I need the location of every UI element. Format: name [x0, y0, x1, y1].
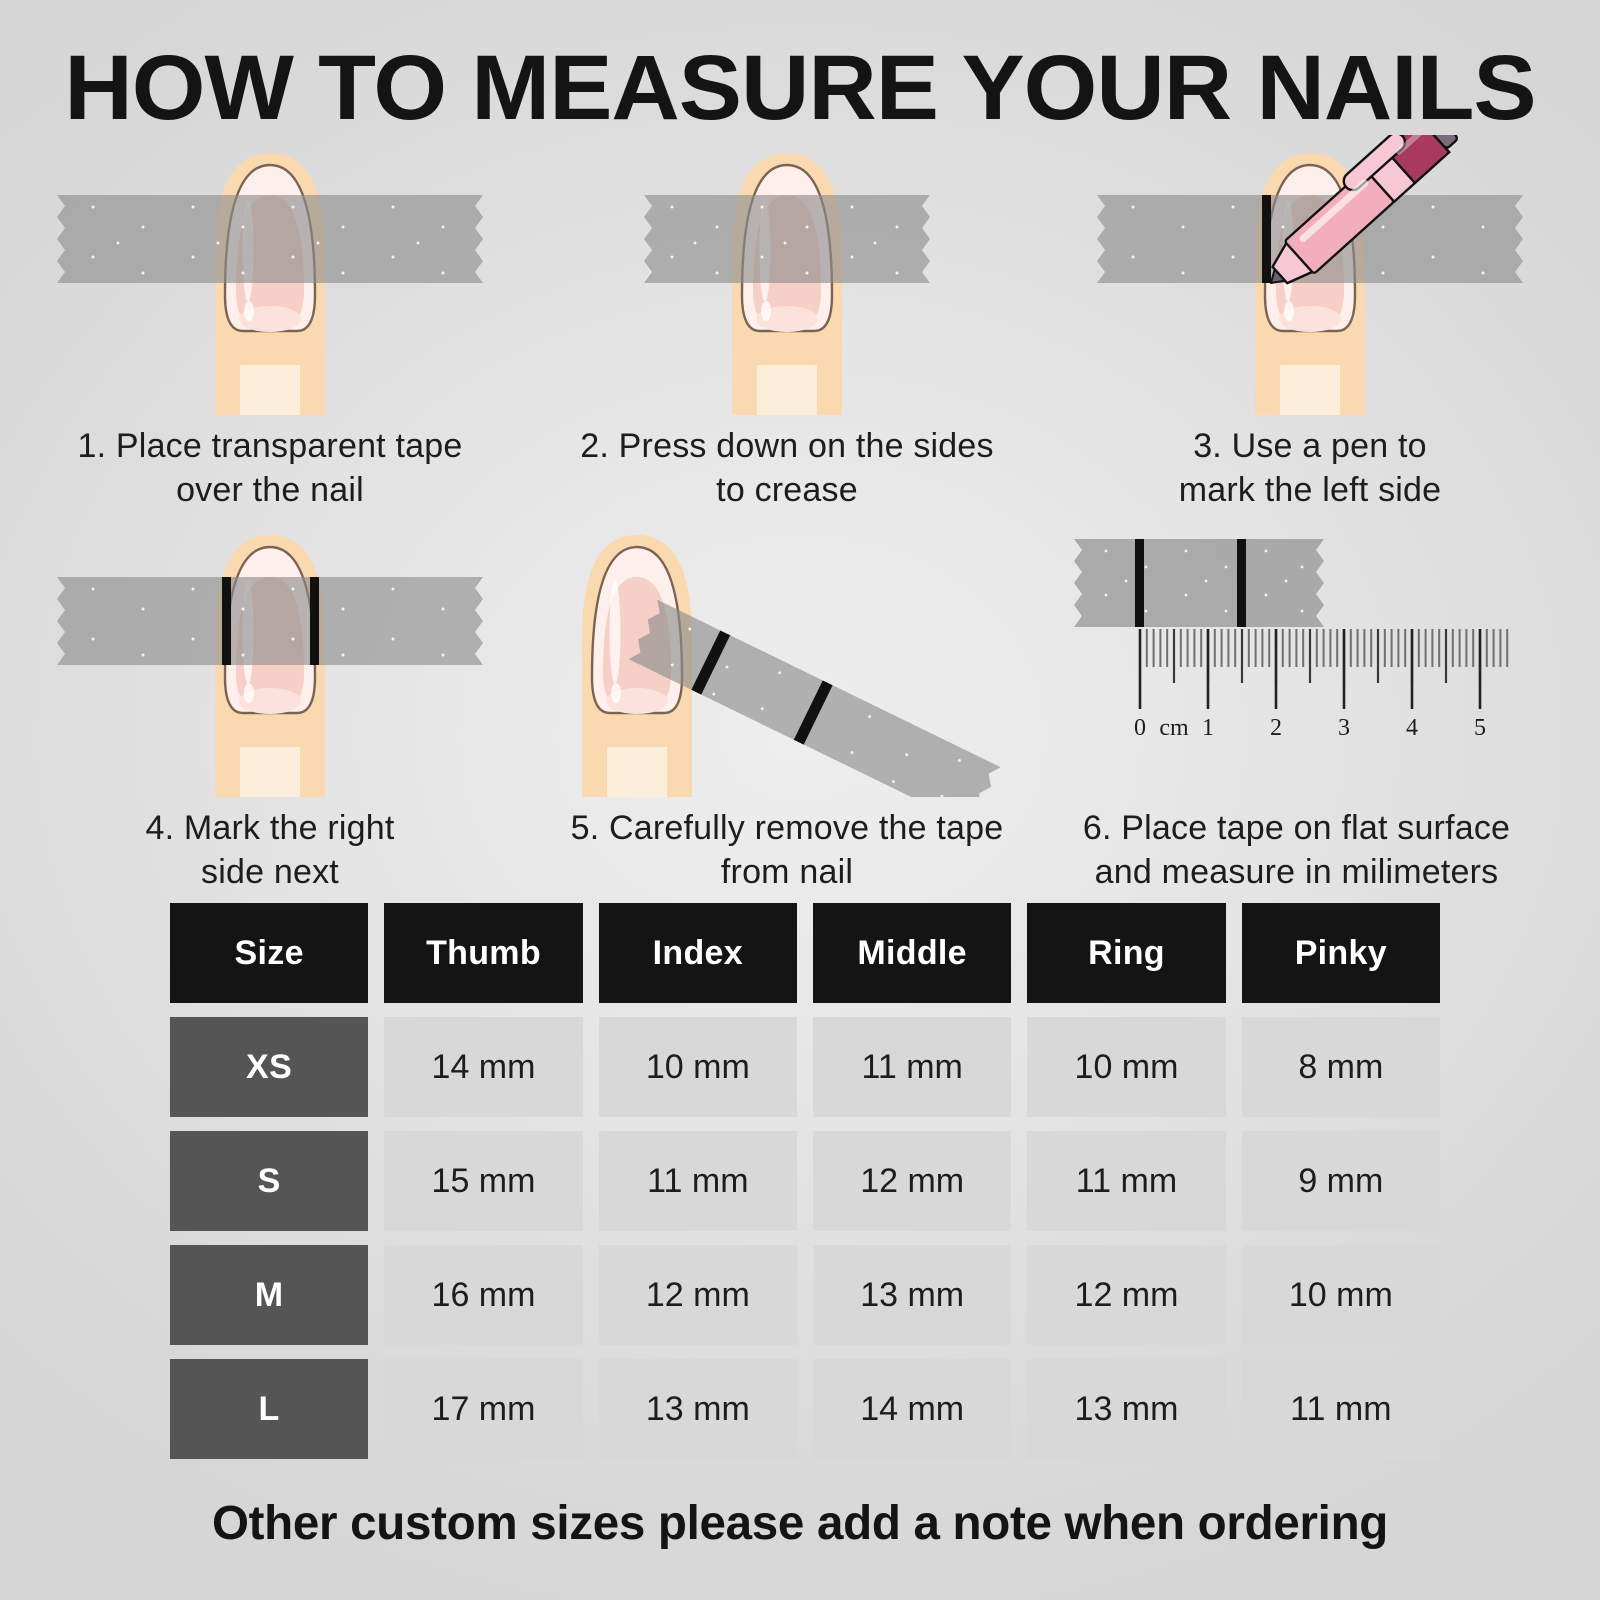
step-1: 1. Place transparent tapeover the nail — [35, 135, 505, 512]
step-6-caption: 6. Place tape on flat surfaceand measure… — [1044, 807, 1549, 894]
tape-on-ruler-svg: 0 cm 1 2 3 4 5 — [1062, 517, 1532, 797]
table-header-thumb: Thumb — [384, 903, 582, 1003]
step-6: 0 cm 1 2 3 4 5 6. Place tape on flat sur… — [1062, 517, 1532, 894]
tape — [1074, 539, 1324, 627]
step-2-illustration — [552, 135, 1022, 415]
tape — [57, 577, 483, 665]
table-cell-s-middle: 12 mm — [813, 1131, 1011, 1231]
ruler-tick-0: 0 — [1134, 715, 1146, 741]
ruler-tick-3: 3 — [1338, 715, 1350, 741]
ruler-tick-5: 5 — [1474, 715, 1486, 741]
step-2: 2. Press down on the sidesto crease — [552, 135, 1022, 512]
table-cell-xs-index: 10 mm — [599, 1017, 797, 1117]
step-3-illustration — [1075, 135, 1545, 415]
finger-tape-pen-svg — [1075, 135, 1545, 415]
table-cell-s-ring: 11 mm — [1027, 1131, 1225, 1231]
infographic-page: HOW TO MEASURE YOUR NAILS — [0, 0, 1600, 1600]
ruler-labels: 0 cm 1 2 3 4 5 — [1134, 715, 1486, 741]
step-5-illustration — [552, 517, 1022, 797]
table-header-index: Index — [599, 903, 797, 1003]
table-cell-s-thumb: 15 mm — [384, 1131, 582, 1231]
table-cell-xs-ring: 10 mm — [1027, 1017, 1225, 1117]
table-cell-s-pinky: 9 mm — [1242, 1131, 1440, 1231]
step-4: 4. Mark the rightside next — [35, 517, 505, 894]
ruler-tick-2: 2 — [1270, 715, 1282, 741]
table-cell-m-thumb: 16 mm — [384, 1245, 582, 1345]
table-cell-m-ring: 12 mm — [1027, 1245, 1225, 1345]
table-row-m-size: M — [170, 1245, 368, 1345]
ruler-ticks — [1140, 629, 1507, 709]
step-6-illustration: 0 cm 1 2 3 4 5 — [1062, 517, 1532, 797]
table-header-pinky: Pinky — [1242, 903, 1440, 1003]
ruler-tick-4: 4 — [1406, 715, 1418, 741]
table-cell-s-index: 11 mm — [599, 1131, 797, 1231]
table-header-ring: Ring — [1027, 903, 1225, 1003]
size-chart-table: Size Thumb Index Middle Ring Pinky XS 14… — [170, 903, 1440, 1459]
table-cell-xs-thumb: 14 mm — [384, 1017, 582, 1117]
table-cell-l-middle: 14 mm — [813, 1359, 1011, 1459]
table-cell-m-index: 12 mm — [599, 1245, 797, 1345]
table-cell-l-index: 13 mm — [599, 1359, 797, 1459]
step-4-illustration — [35, 517, 505, 797]
ruler-tick-1: 1 — [1202, 715, 1214, 741]
table-cell-l-ring: 13 mm — [1027, 1359, 1225, 1459]
finger-with-tape-svg — [35, 135, 505, 415]
table-row-s-size: S — [170, 1131, 368, 1231]
tape — [644, 195, 930, 283]
finger-tape-two-marks-svg — [35, 517, 505, 797]
table-cell-m-middle: 13 mm — [813, 1245, 1011, 1345]
tape — [57, 195, 483, 283]
ruler-unit-label: cm — [1159, 715, 1189, 741]
left-mark — [1262, 195, 1271, 283]
footer-note: Other custom sizes please add a note whe… — [8, 1496, 1592, 1551]
table-row-xs-size: XS — [170, 1017, 368, 1117]
table-header-middle: Middle — [813, 903, 1011, 1003]
finger-tape-peeled-svg — [552, 517, 1022, 797]
table-cell-m-pinky: 10 mm — [1242, 1245, 1440, 1345]
table-cell-xs-pinky: 8 mm — [1242, 1017, 1440, 1117]
step-2-caption: 2. Press down on the sidesto crease — [552, 425, 1022, 512]
finger-tape-creased-svg — [552, 135, 1022, 415]
step-3: 3. Use a pen tomark the left side — [1075, 135, 1545, 512]
mark-1 — [1135, 539, 1144, 627]
table-cell-l-pinky: 11 mm — [1242, 1359, 1440, 1459]
left-mark — [222, 577, 231, 665]
step-5: 5. Carefully remove the tapefrom nail — [552, 517, 1022, 894]
table-cell-xs-middle: 11 mm — [813, 1017, 1011, 1117]
table-row-l-size: L — [170, 1359, 368, 1459]
step-4-caption: 4. Mark the rightside next — [35, 807, 505, 894]
page-title: HOW TO MEASURE YOUR NAILS — [0, 36, 1600, 141]
table-cell-l-thumb: 17 mm — [384, 1359, 582, 1459]
mark-2 — [1237, 539, 1246, 627]
step-5-caption: 5. Carefully remove the tapefrom nail — [537, 807, 1037, 894]
right-mark — [310, 577, 319, 665]
step-1-caption: 1. Place transparent tapeover the nail — [35, 425, 505, 512]
step-3-caption: 3. Use a pen tomark the left side — [1075, 425, 1545, 512]
table-header-size: Size — [170, 903, 368, 1003]
step-1-illustration — [35, 135, 505, 415]
